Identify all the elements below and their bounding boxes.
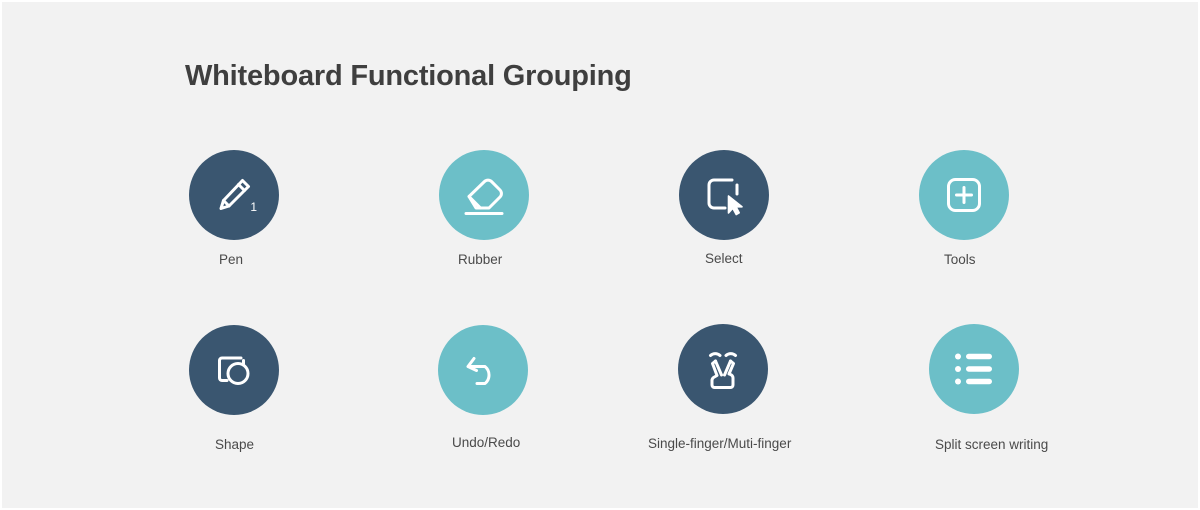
tool-button-pen[interactable]: 1 — [189, 150, 279, 240]
whiteboard-grouping-page: Whiteboard Functional Grouping 1Pen Rubb… — [2, 2, 1198, 508]
pen-count-badge: 1 — [250, 200, 257, 214]
list-icon — [951, 351, 997, 387]
shapes-icon — [211, 349, 257, 391]
plus-square-icon — [941, 172, 987, 218]
undo-arrow-icon — [461, 349, 505, 391]
tool-label-shape: Shape — [215, 437, 254, 452]
tool-button-shape[interactable] — [189, 325, 279, 415]
select-cursor-icon — [701, 172, 747, 218]
tool-label-select: Select — [705, 251, 743, 266]
tool-button-single-finger-muti-finger[interactable] — [678, 324, 768, 414]
icon-grid: 1Pen Rubber Select Tools Shape Undo/Redo… — [2, 2, 1198, 508]
tool-label-single-finger-muti-finger: Single-finger/Muti-finger — [648, 436, 791, 451]
tool-label-split-screen-writing: Split screen writing — [935, 437, 1048, 452]
tool-label-undo-redo: Undo/Redo — [452, 435, 520, 450]
eraser-icon — [460, 173, 508, 217]
tool-label-rubber: Rubber — [458, 252, 502, 267]
two-finger-gesture-icon — [699, 345, 747, 393]
tool-button-tools[interactable] — [919, 150, 1009, 240]
tool-label-pen: Pen — [219, 252, 243, 267]
tool-label-tools: Tools — [944, 252, 976, 267]
tool-button-rubber[interactable] — [439, 150, 529, 240]
tool-button-select[interactable] — [679, 150, 769, 240]
tool-button-split-screen-writing[interactable] — [929, 324, 1019, 414]
tool-button-undo-redo[interactable] — [438, 325, 528, 415]
